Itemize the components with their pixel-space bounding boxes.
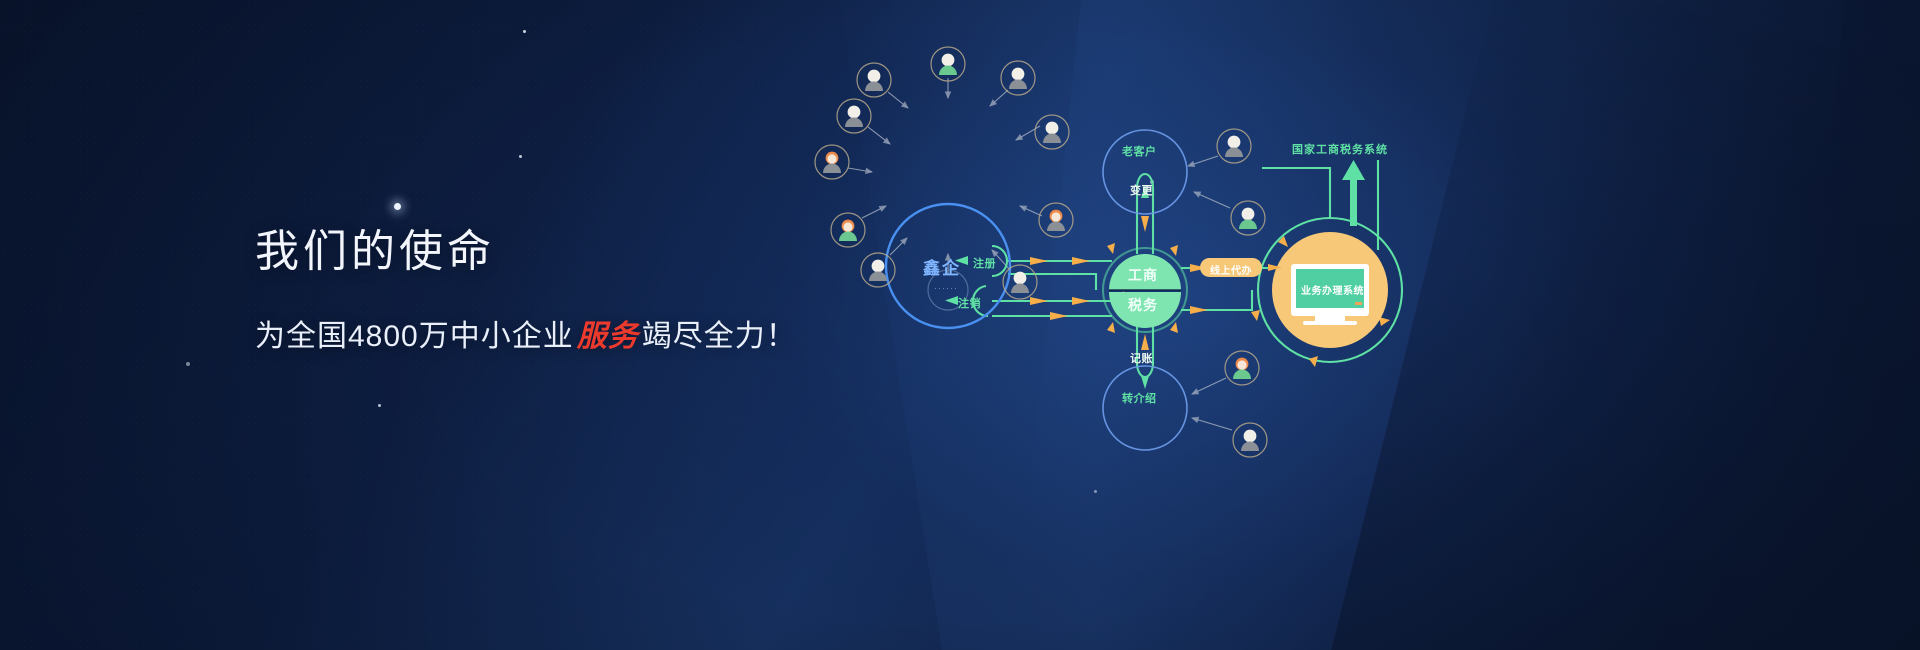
avatar-bubbles [815,47,1267,457]
national-system-arrow [1342,160,1365,226]
mission-copy: 我们的使命 为全国4800万中小企业服务竭尽全力！ [255,215,797,355]
subtitle-text-after: 竭尽全力！ [642,320,797,353]
star-dot-glow [394,203,401,210]
diagram-canvas [900,150,1580,500]
system-node[interactable] [1272,232,1388,348]
client-avatar-cluster [848,78,1042,275]
online-agency-badge[interactable] [1200,258,1262,277]
star-dot [523,30,526,33]
star-dot [186,362,190,366]
old-customer-node[interactable] [1103,130,1187,214]
mission-subtitle: 为全国4800万中小企业服务竭尽全力！ [255,311,797,355]
subtitle-text-before: 为全国4800万中小企业 [255,320,574,353]
core-node[interactable] [1103,248,1187,332]
more-clients-ring[interactable] [928,270,968,310]
star-dot [378,404,381,407]
hero-banner: 我们的使命 为全国4800万中小企业服务竭尽全力！ [0,0,1920,650]
page-title: 我们的使命 [255,215,797,279]
service-flow-diagram: 国家工商税务系统 鑫企 注册 注销 ······ 老客户 变更 记账 转介绍 工… [900,150,1580,500]
subtitle-highlight: 服务 [574,320,642,353]
star-dot [519,155,522,158]
